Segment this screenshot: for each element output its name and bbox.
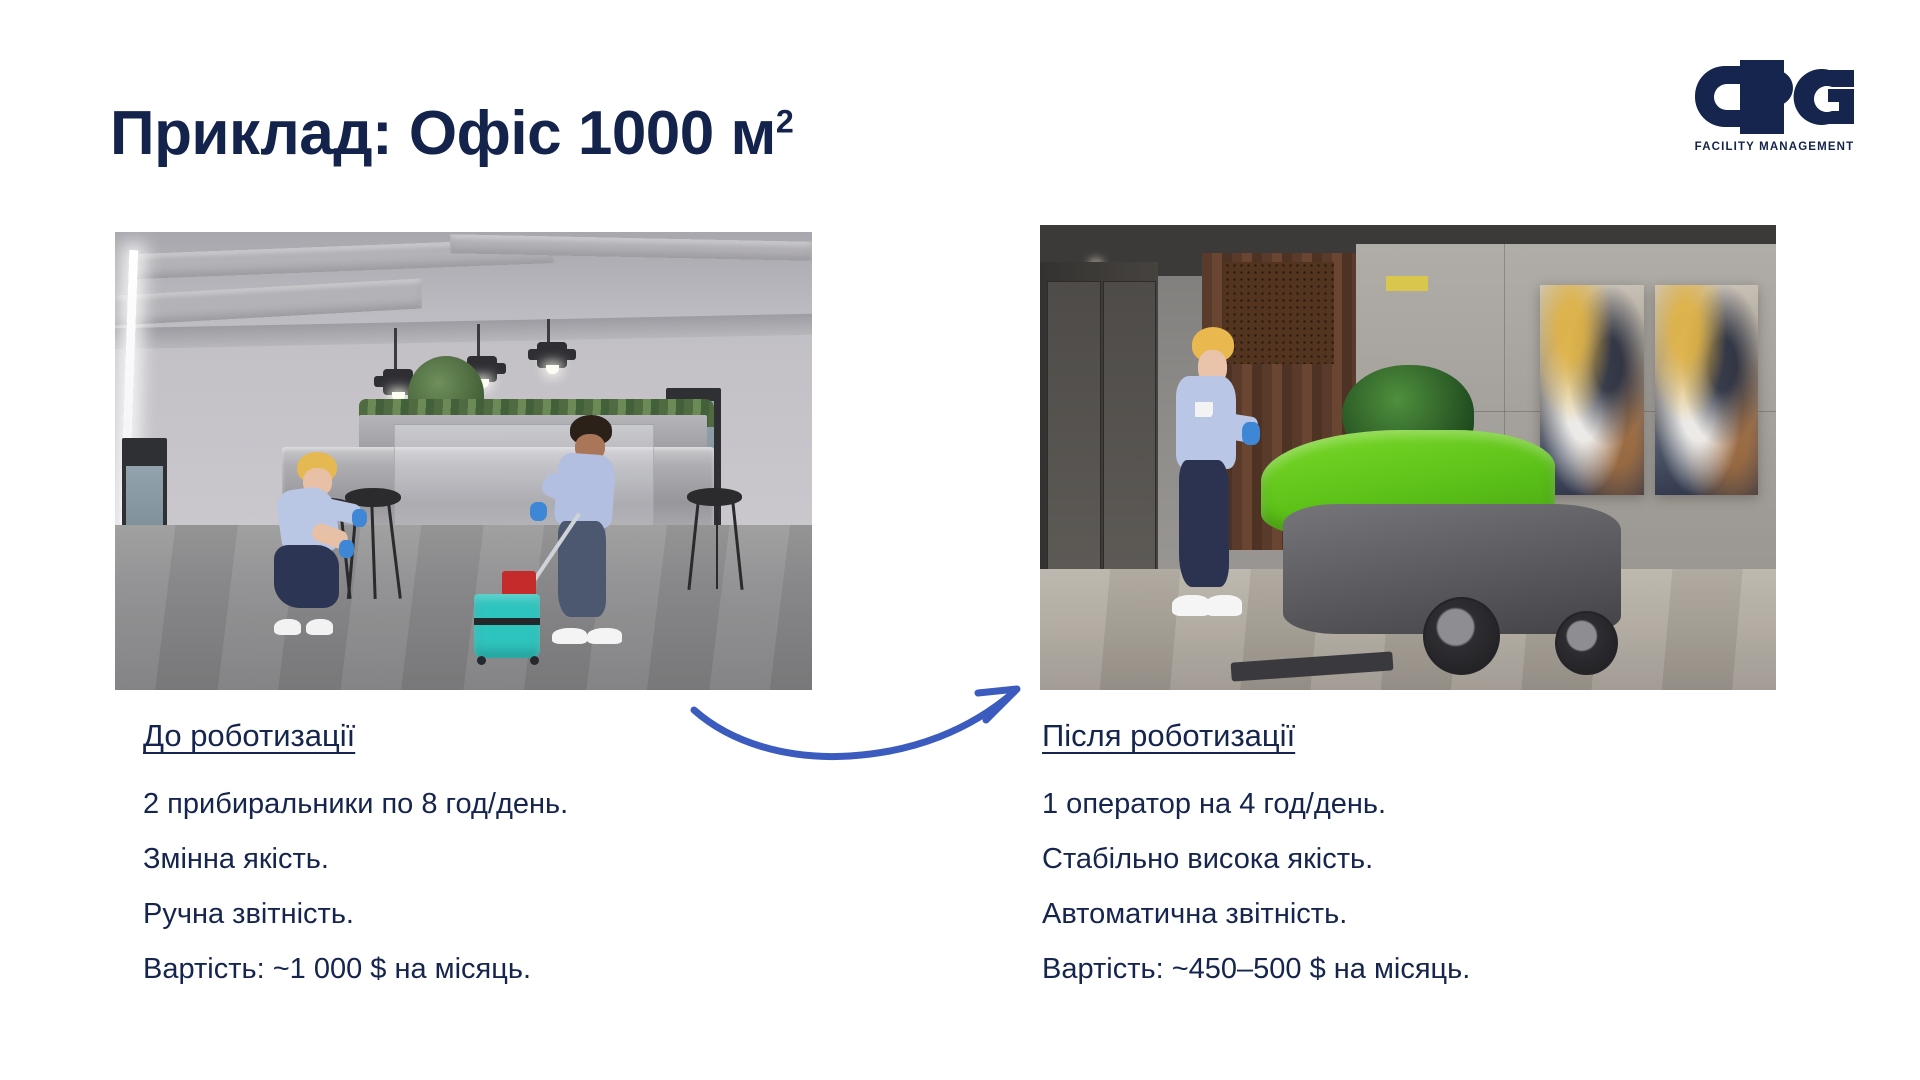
cleaner-crouching xyxy=(272,452,363,635)
pendant-cord xyxy=(394,328,397,374)
after-bullet-list: 1 оператор на 4 год/день. Стабільно висо… xyxy=(1042,790,1742,984)
cleaner-shoe xyxy=(552,628,587,644)
elevator-door xyxy=(1103,281,1157,571)
cleaning-glove xyxy=(352,509,367,527)
wall-art-left xyxy=(1540,285,1643,494)
after-photo-scene xyxy=(1040,225,1776,690)
logo-tagline: FACILITY MANAGEMENT xyxy=(1687,141,1862,153)
list-item: Ручна звітність. xyxy=(143,900,803,929)
cleaning-glove xyxy=(530,502,547,520)
stool-leg xyxy=(688,503,700,589)
elevator-door xyxy=(1047,281,1101,571)
stool-leg xyxy=(370,504,376,599)
before-column: До роботизації 2 прибиральники по 8 год/… xyxy=(143,718,803,1010)
cleaner-shoe xyxy=(587,628,622,644)
cleaner-shoe xyxy=(306,619,333,635)
scrubber-wheel xyxy=(1423,597,1501,675)
after-column: Після роботизації 1 оператор на 4 год/де… xyxy=(1042,718,1742,1010)
list-item: 2 прибиральники по 8 год/день. xyxy=(143,790,803,819)
brand-logo: FACILITY MANAGEMENT xyxy=(1687,58,1862,153)
page-title-text: Приклад: Офіс 1000 м xyxy=(110,99,776,168)
cleaner-mopping xyxy=(547,415,634,644)
wall-sign xyxy=(1386,276,1428,291)
bar-stool xyxy=(687,488,743,589)
before-photo-scene xyxy=(115,232,812,690)
operator-legs xyxy=(1179,460,1229,587)
operator-shoe xyxy=(1205,595,1242,615)
after-photo xyxy=(1040,225,1776,690)
operator-name-badge xyxy=(1195,402,1213,416)
stool-leg xyxy=(716,503,719,590)
page-title: Приклад: Офіс 1000 м2 xyxy=(110,100,793,168)
cleaner-shoe xyxy=(274,619,301,635)
cleaning-glove xyxy=(339,540,354,558)
before-heading: До роботизації xyxy=(143,718,355,754)
machine-operator xyxy=(1172,327,1253,615)
bucket-caster xyxy=(530,656,539,665)
wall-art-right xyxy=(1655,285,1758,494)
before-bullet-list: 2 прибиральники по 8 год/день. Змінна як… xyxy=(143,790,803,984)
pendant-lamp xyxy=(537,342,567,368)
stool-leg xyxy=(731,503,743,589)
cpg-logo-icon xyxy=(1687,58,1862,136)
list-item: 1 оператор на 4 год/день. xyxy=(1042,790,1742,819)
slide-canvas: Приклад: Офіс 1000 м2 FACILITY MANAGEMEN… xyxy=(0,0,1920,1080)
after-heading: Після роботизації xyxy=(1042,718,1295,754)
scrubber-wheel xyxy=(1555,611,1618,675)
list-item: Стабільно висока якість. xyxy=(1042,845,1742,874)
stool-leg xyxy=(387,504,401,598)
before-photo xyxy=(115,232,812,690)
bucket-band xyxy=(474,618,540,625)
list-item: Вартість: ~1 000 $ на місяць. xyxy=(143,955,803,984)
list-item: Змінна якість. xyxy=(143,845,803,874)
cleaner-legs xyxy=(274,545,339,607)
list-item: Автоматична звітність. xyxy=(1042,900,1742,929)
mop-bucket xyxy=(474,594,540,658)
list-item: Вартість: ~450–500 $ на місяць. xyxy=(1042,955,1742,984)
pendant-cord xyxy=(477,324,480,361)
page-title-superscript: 2 xyxy=(776,103,793,139)
operator-glove xyxy=(1242,422,1260,445)
